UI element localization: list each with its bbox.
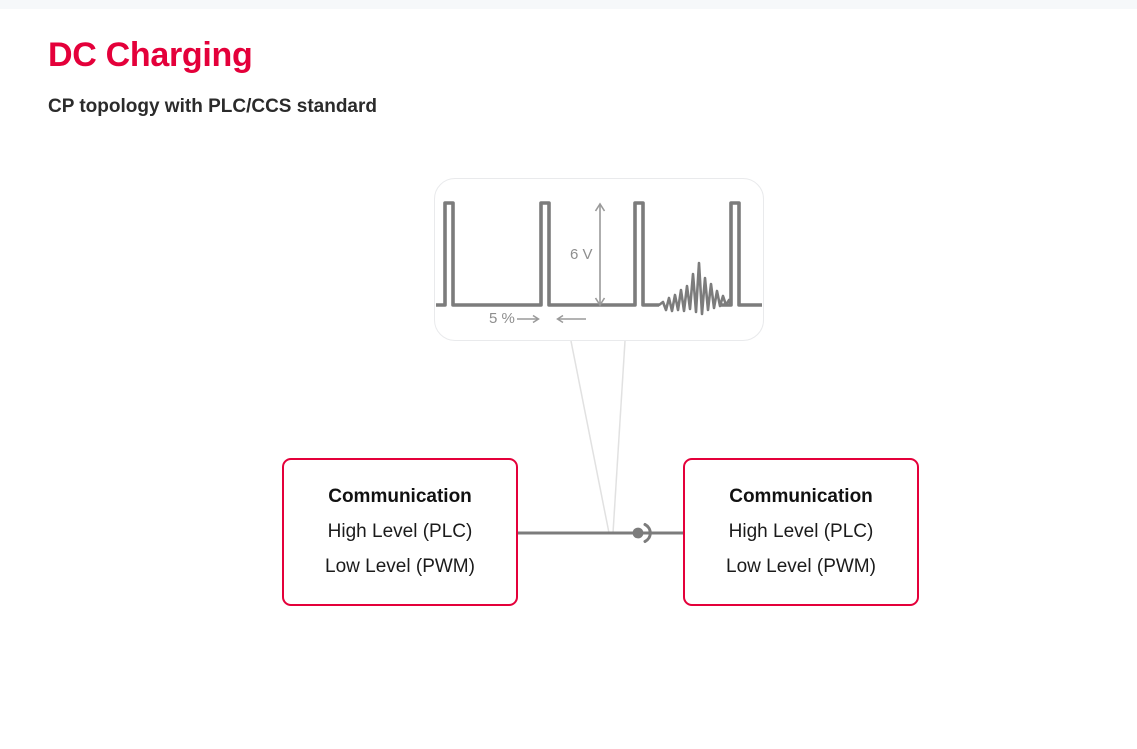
callout-leader-lines [571, 341, 625, 533]
amplitude-arrow [596, 204, 605, 305]
duty-cycle-arrows [517, 316, 586, 323]
amplitude-label: 6 V [570, 246, 593, 263]
top-band [0, 0, 1137, 9]
communication-box-left[interactable]: Communication High Level (PLC) Low Level… [282, 458, 518, 606]
waveform-graphic [434, 178, 764, 341]
slide-canvas: DC Charging CP topology with PLC/CCS sta… [0, 0, 1137, 749]
communication-box-right[interactable]: Communication High Level (PLC) Low Level… [683, 458, 919, 606]
communication-low-level: Low Level (PWM) [325, 556, 475, 578]
duty-cycle-label: 5 % [489, 310, 515, 327]
communication-box-title: Communication [328, 486, 472, 508]
pwm-pulse-train [436, 203, 762, 305]
communication-high-level: High Level (PLC) [328, 521, 473, 543]
communication-box-title: Communication [729, 486, 873, 508]
communication-low-level: Low Level (PWM) [726, 556, 876, 578]
communication-high-level: High Level (PLC) [729, 521, 874, 543]
page-title: DC Charging [48, 36, 252, 75]
page-subtitle: CP topology with PLC/CCS standard [48, 96, 377, 118]
plc-burst-noise [659, 263, 731, 314]
